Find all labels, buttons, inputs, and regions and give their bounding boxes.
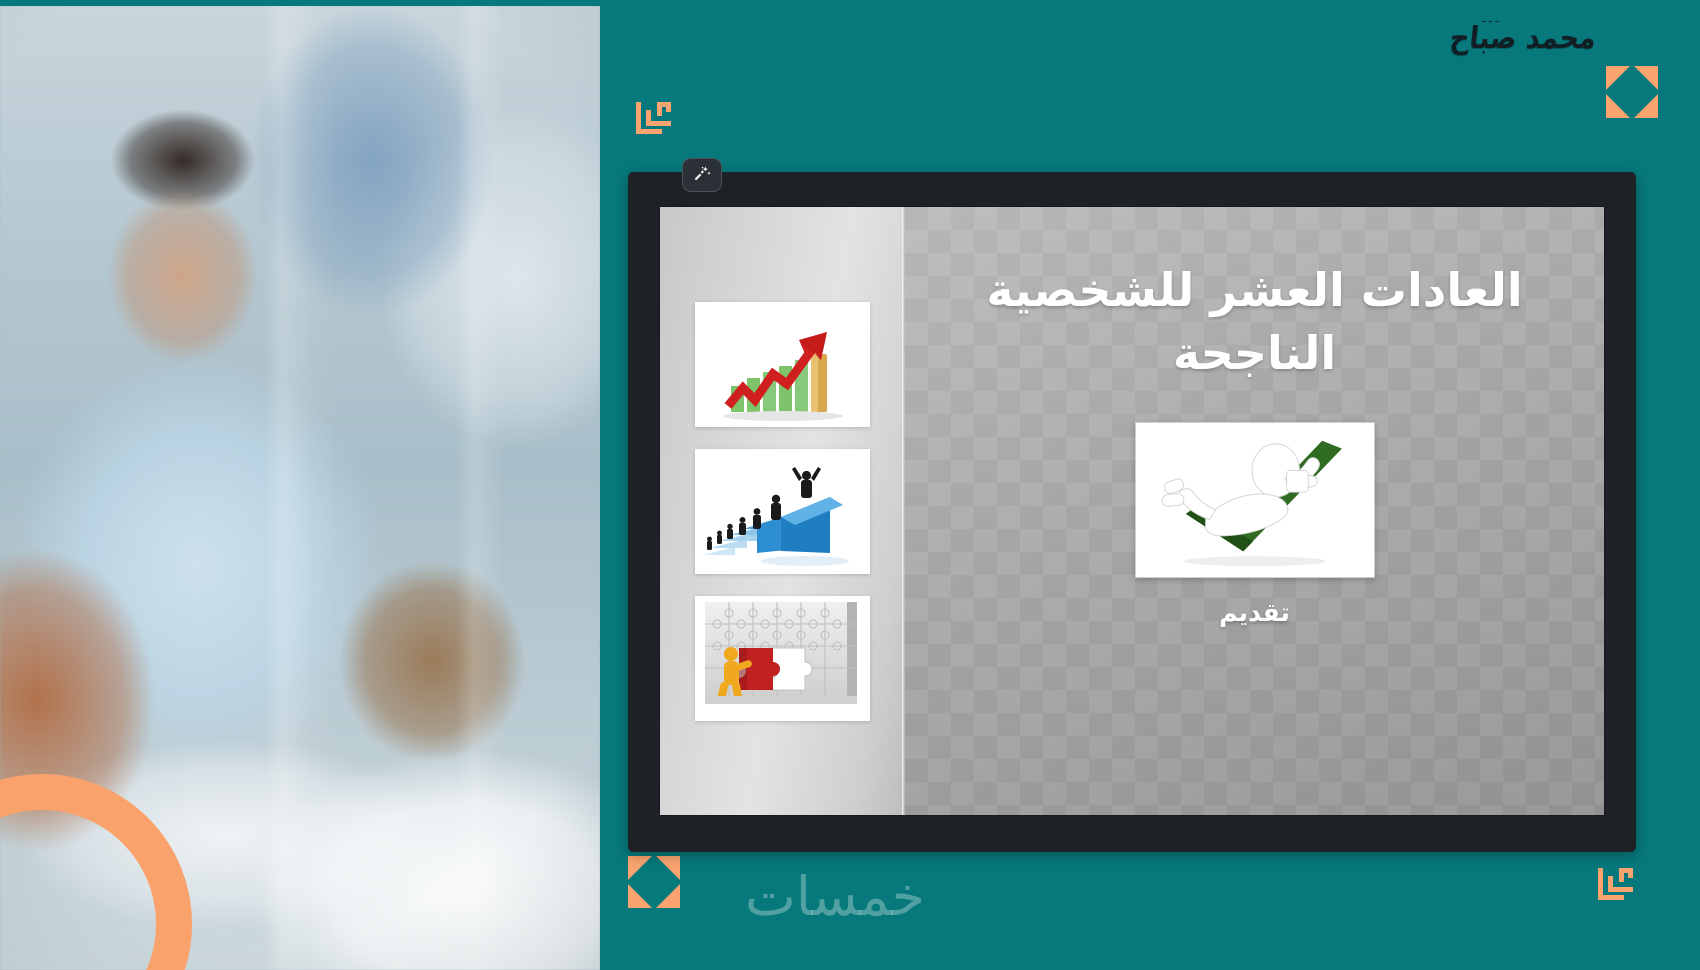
triangle-bottom-right <box>656 884 680 908</box>
slide-image-strip <box>660 207 905 815</box>
ai-sparkle-button[interactable] <box>682 158 722 192</box>
calligraphy-signature-logo: ـ ـ ـ محمد صباح <box>1468 10 1578 66</box>
slide-content-area: العادات العشر للشخصية الناجحة <box>905 207 1604 815</box>
hero-photo-panel <box>0 6 600 970</box>
slide-canvas[interactable]: العادات العشر للشخصية الناجحة <box>660 207 1604 815</box>
triangle-top-right <box>656 856 680 880</box>
khamsat-watermark: خمسات <box>745 870 925 924</box>
signature-text: محمد صباح <box>1448 21 1598 56</box>
triangle-bottom-left <box>1606 94 1630 118</box>
kufic-ornament-top-left <box>634 96 678 140</box>
ai-sparkle-icon <box>692 165 712 185</box>
growth-chart-red-arrow-image <box>695 302 870 427</box>
triangle-top-left <box>628 856 652 880</box>
triangle-top-left <box>1606 66 1630 90</box>
puzzle-piece-figure-image <box>695 596 870 721</box>
pinwheel-ornament-bottom-left <box>628 856 680 908</box>
triangle-bottom-left <box>628 884 652 908</box>
blue-stairs-businessmen-image <box>695 449 870 574</box>
triangle-bottom-right <box>1634 94 1658 118</box>
slide-viewer-frame: العادات العشر للشخصية الناجحة <box>628 172 1636 852</box>
triangle-top-right <box>1634 66 1658 90</box>
presentation-preview-stage: ـ ـ ـ محمد صباح <box>0 0 1700 970</box>
office-meeting-photo <box>0 6 600 970</box>
slide-title: العادات العشر للشخصية الناجحة <box>975 259 1535 386</box>
pinwheel-ornament-top-right <box>1606 66 1658 118</box>
figure-relaxing-on-green-check <box>1135 422 1375 578</box>
kufic-ornament-bottom-right <box>1596 862 1640 906</box>
slide-subtitle: تقديم <box>1219 598 1290 627</box>
